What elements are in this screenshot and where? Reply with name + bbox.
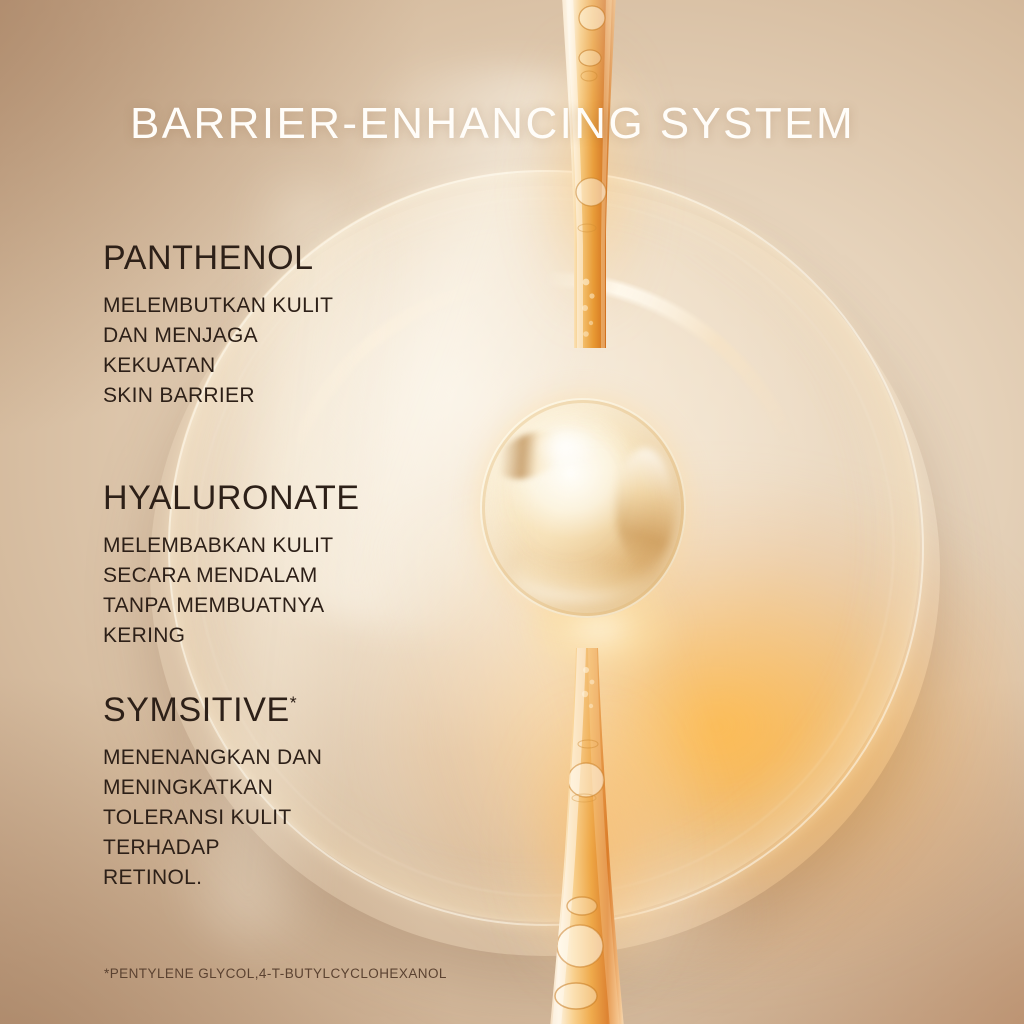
serum-stream-bottom: [530, 648, 660, 1024]
ingredient-block-panthenol: PANTHENOL MELEMBUTKAN KULIT DAN MENJAGA …: [103, 240, 433, 411]
ingredient-heading-text: HYALURONATE: [103, 479, 360, 517]
ingredient-body-line: MELEMBABKAN KULIT: [103, 531, 433, 561]
ingredient-heading-symsitive: SYMSITIVE*: [103, 692, 433, 729]
ingredient-body-line: DAN MENJAGA: [103, 321, 433, 351]
ingredient-body-symsitive: MENENANGKAN DAN MENINGKATKAN TOLERANSI K…: [103, 743, 433, 892]
ingredient-body-line: MELEMBUTKAN KULIT: [103, 291, 433, 321]
marketing-poster: BARRIER-ENHANCING SYSTEM PANTHENOL MELEM…: [0, 0, 1024, 1024]
droplet-rim: [480, 398, 686, 618]
page-title: BARRIER-ENHANCING SYSTEM: [130, 99, 855, 149]
ingredient-body-line: SECARA MENDALAM: [103, 561, 433, 591]
ingredient-body-line: TANPA MEMBUATNYA: [103, 591, 433, 621]
ingredient-heading-panthenol: PANTHENOL: [103, 240, 433, 277]
footnote-ingredients: *PENTYLENE GLYCOL,4-T-BUTYLCYCLOHEXANOL: [104, 966, 447, 981]
ingredient-body-line: MENENANGKAN DAN: [103, 743, 433, 773]
ingredient-body-line: TERHADAP: [103, 833, 433, 863]
ingredient-heading-text: SYMSITIVE: [103, 691, 290, 729]
ingredient-block-hyaluronate: HYALURONATE MELEMBABKAN KULIT SECARA MEN…: [103, 480, 433, 651]
ingredient-body-line: MENINGKATKAN: [103, 773, 433, 803]
ingredient-body-line: RETINOL.: [103, 863, 433, 893]
ingredient-heading-text: PANTHENOL: [103, 239, 314, 277]
ingredient-body-hyaluronate: MELEMBABKAN KULIT SECARA MENDALAM TANPA …: [103, 531, 433, 650]
serum-droplet: [470, 388, 698, 632]
serum-stream-top: [556, 0, 620, 348]
ingredient-block-symsitive: SYMSITIVE* MENENANGKAN DAN MENINGKATKAN …: [103, 692, 433, 892]
ingredient-heading-asterisk: *: [290, 693, 297, 713]
ingredient-heading-hyaluronate: HYALURONATE: [103, 480, 433, 517]
ingredient-body-line: SKIN BARRIER: [103, 381, 433, 411]
ingredient-body-line: KEKUATAN: [103, 351, 433, 381]
ingredient-body-line: TOLERANSI KULIT: [103, 803, 433, 833]
ingredient-body-panthenol: MELEMBUTKAN KULIT DAN MENJAGA KEKUATAN S…: [103, 291, 433, 410]
ingredient-body-line: KERING: [103, 621, 433, 651]
